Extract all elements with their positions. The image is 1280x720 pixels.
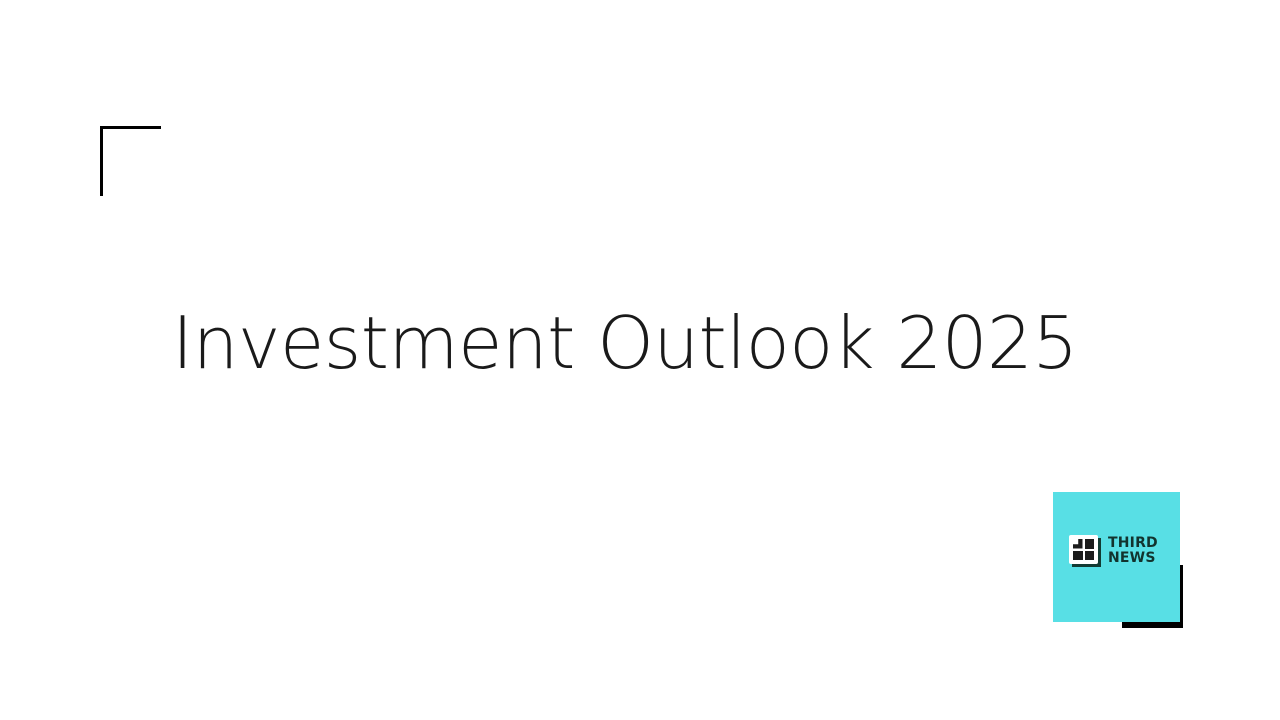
icon-pane-top-left [1073,539,1083,549]
brand-wordmark-line-1: THIRD [1108,536,1158,551]
corner-bracket-horizontal-bar [100,126,161,129]
slide-canvas: Investment Outlook 2025 THIRD NEW [0,0,1280,720]
icon-pane-bottom-left [1073,551,1083,561]
corner-bracket-vertical-bar [100,126,103,196]
icon-pane-bottom-right [1085,551,1095,561]
logo-shadow-bottom [1122,622,1183,628]
brand-wordmark-line-2: NEWS [1108,551,1158,566]
logo-lockup: THIRD NEWS [1069,535,1158,567]
brand-wordmark: THIRD NEWS [1108,536,1158,566]
newspaper-window-icon-grid [1073,539,1094,560]
corner-bracket [100,126,161,196]
logo-shadow-right [1180,565,1183,628]
brand-logo-block: THIRD NEWS [1053,492,1180,622]
newspaper-window-icon-face [1069,535,1098,564]
page-title: Investment Outlook 2025 [172,300,1078,386]
icon-pane-top-right [1085,539,1095,549]
newspaper-window-icon [1069,535,1101,567]
